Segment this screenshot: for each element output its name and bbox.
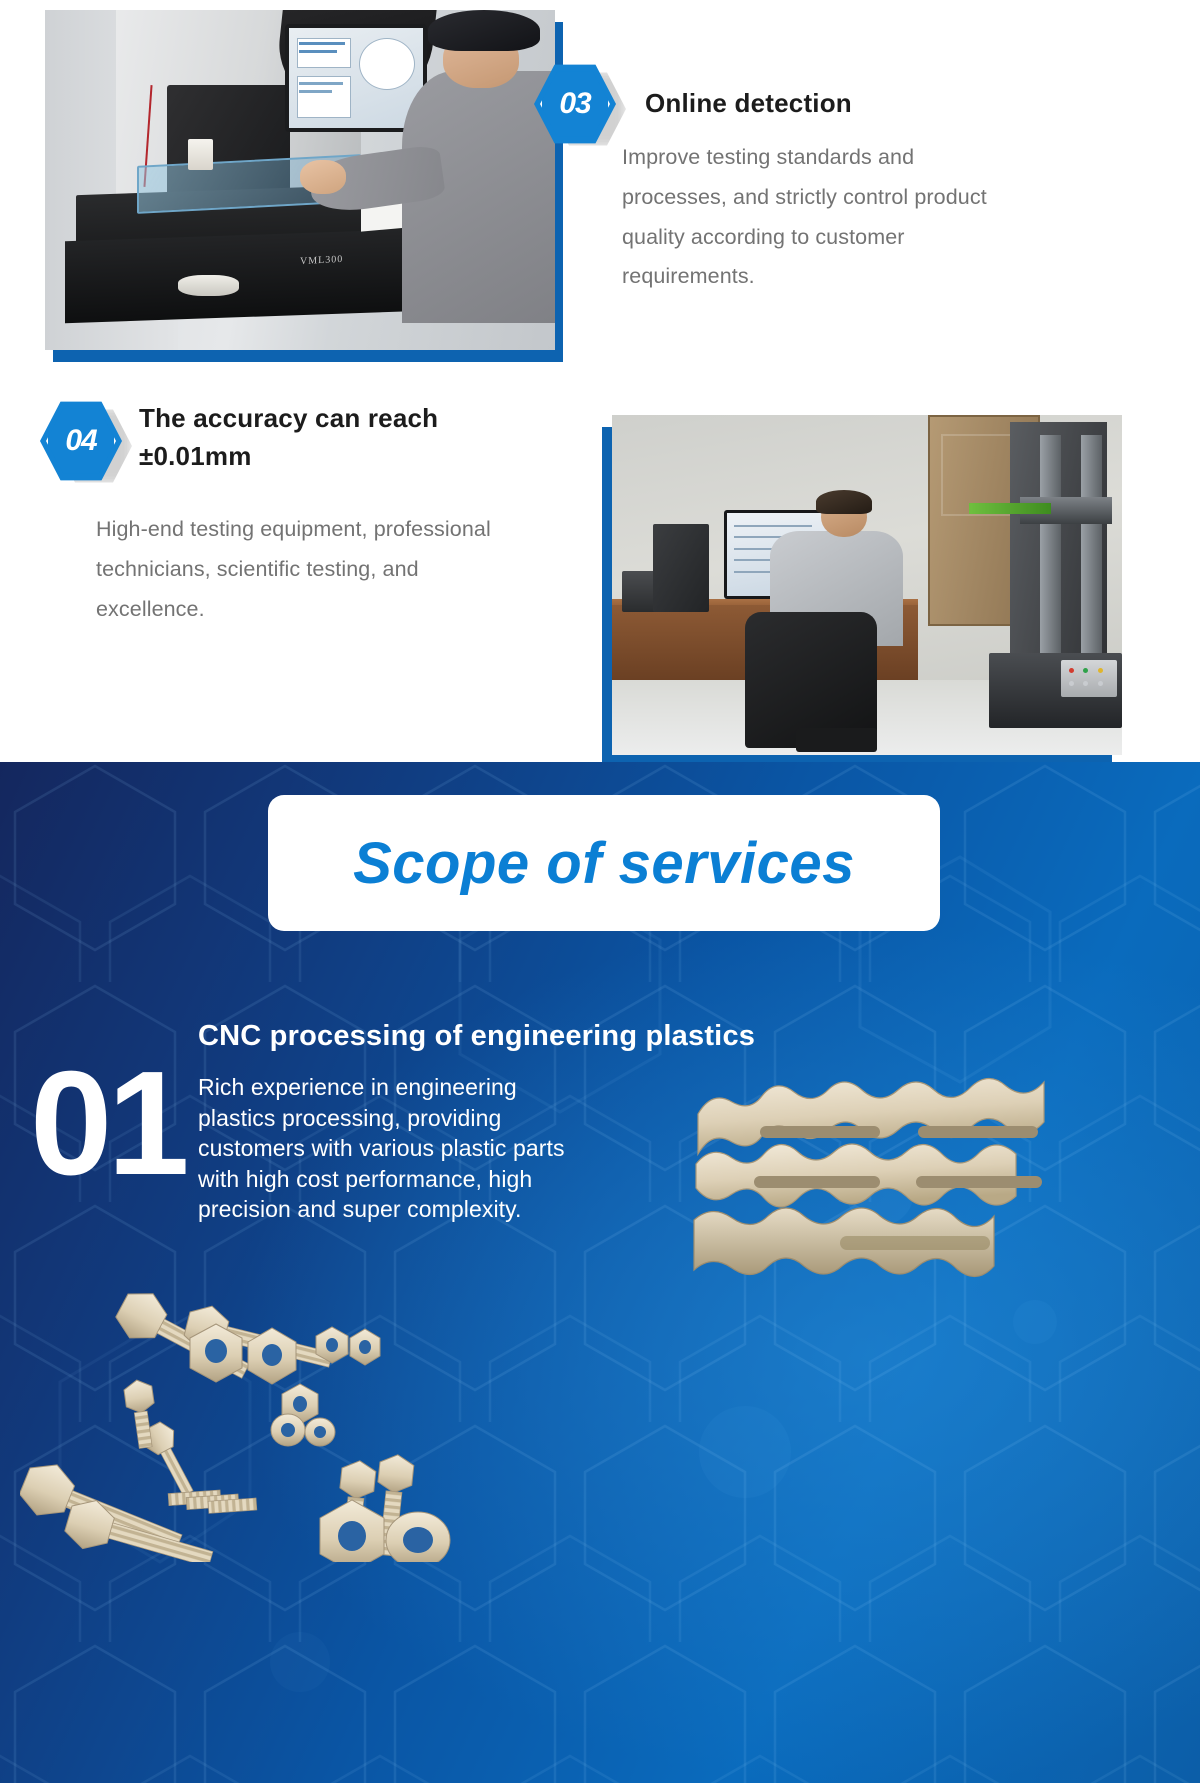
service-01-number: 01 [30, 1050, 185, 1198]
feature-03-title: Online detection [645, 85, 1115, 123]
feature-03-photo: VML300 [45, 10, 555, 350]
peek-fasteners-image [20, 1272, 490, 1562]
feature-04-photo [612, 415, 1122, 755]
marketing-page: VML300 03 Online detection Improve testi… [0, 0, 1200, 1783]
machine-model-label: VML300 [300, 254, 343, 267]
scope-of-services-section: Scope of services 01 CNC processing of e… [0, 762, 1200, 1783]
machined-peek-bracket-image [690, 1052, 1130, 1302]
scope-banner-card: Scope of services [268, 795, 940, 931]
tensile-testing-machine-image [612, 415, 1122, 755]
feature-04-body: High-end testing equipment, professional… [96, 510, 521, 629]
service-01-title: CNC processing of engineering plastics [198, 1020, 958, 1053]
feature-04-badge: 04 [40, 400, 122, 482]
feature-04-number: 04 [40, 400, 122, 482]
vision-measuring-machine-image: VML300 [45, 10, 555, 350]
feature-03-body: Improve testing standards and processes,… [622, 138, 1022, 297]
feature-04-title: The accuracy can reach ±0.01mm [139, 400, 519, 475]
feature-03-badge: 03 [534, 63, 616, 145]
scope-banner-title: Scope of services [353, 830, 855, 897]
feature-03-number: 03 [534, 63, 616, 145]
service-01-body: Rich experience in engineering plastics … [198, 1072, 598, 1225]
features-section: VML300 03 Online detection Improve testi… [0, 0, 1200, 862]
